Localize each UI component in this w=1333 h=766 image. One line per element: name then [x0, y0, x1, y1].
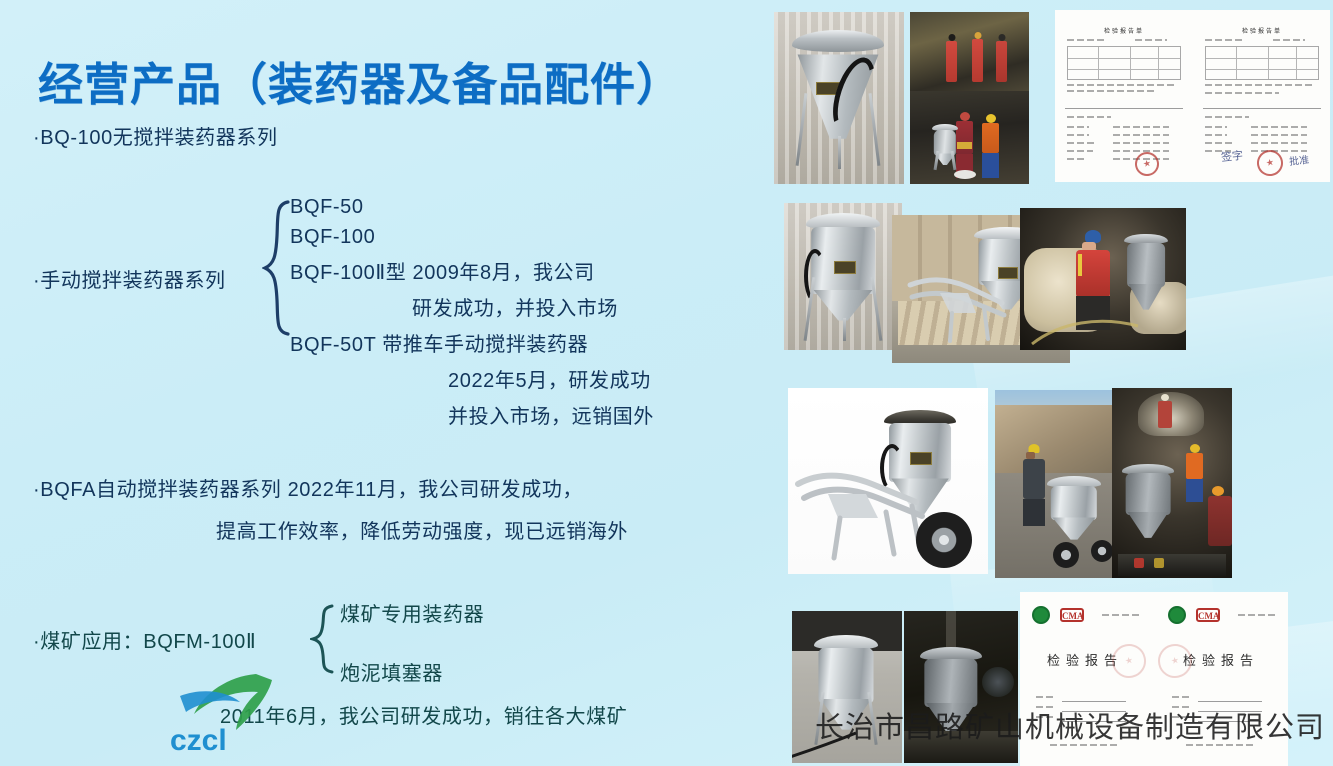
coal-mine-item-2: 炮泥填塞器: [340, 657, 443, 686]
certificate-document-2: 检验报告单: [1195, 12, 1329, 180]
certificate-document-1: 检验报告单: [1057, 12, 1191, 180]
photo-tunnel-charging: [1112, 388, 1232, 578]
list-item: BQF-100Ⅱ型 2009年8月，我公司: [290, 256, 654, 285]
photo-bqfm-100-device: [792, 611, 902, 763]
list-item: 并投入市场，远销国外: [290, 400, 654, 429]
list-item: BQF-50: [290, 196, 654, 219]
bullet-bq100-series: ·BQ-100无搅拌装药器系列: [33, 121, 278, 150]
text-column: 经营产品（装药器及备品配件） ·BQ-100无搅拌装药器系列 ·手动搅拌装药器系…: [0, 0, 770, 766]
cma-badge: CMA: [1196, 608, 1220, 622]
inspection-report-1: CMA 检验报告: [1020, 592, 1150, 766]
photo-overseas-site: [995, 390, 1117, 578]
curly-brace-icon: [262, 200, 292, 336]
label-manual-mixing-series: ·手动搅拌装药器系列: [33, 264, 226, 293]
coal-mine-item-1: 煤矿专用装药器: [340, 598, 484, 627]
manual-mixing-item-list: BQF-50 BQF-100 BQF-100Ⅱ型 2009年8月，我公司 研发成…: [290, 196, 654, 436]
photo-mine-site-workers: [910, 12, 1029, 184]
list-item: BQF-100: [290, 226, 654, 249]
list-item: BQF-50T 带推车手动搅拌装药器: [290, 328, 654, 357]
photo-underground-operation: [1020, 208, 1186, 350]
photo-coal-mine-underground: [904, 611, 1018, 763]
photo-certificate-documents: 检验报告单: [1055, 10, 1330, 182]
photo-bqfa-cart-render: [788, 388, 988, 574]
coal-mine-detail: 2011年6月，我公司研发成功，销往各大煤矿: [220, 700, 627, 729]
bullet-bqfa-series: ·BQFA自动搅拌装药器系列 2022年11月，我公司研发成功，: [33, 473, 583, 502]
photo-bqf-100-device: [784, 203, 902, 350]
curly-brace-icon: [310, 604, 336, 674]
inspection-report-2: CMA 检验报告: [1156, 592, 1286, 766]
label-coal-mine-application: ·煤矿应用：BQFM-100Ⅱ: [33, 625, 256, 654]
list-item: 研发成功，并投入市场: [290, 292, 654, 321]
image-collage: 检验报告单: [770, 0, 1333, 766]
page-title: 经营产品（装药器及备品配件）: [38, 48, 682, 113]
photo-inspection-reports: CMA 检验报告 CMA 检验报告: [1020, 592, 1288, 766]
bqfa-series-detail: 提高工作效率，降低劳动强度，现已远销海外: [216, 515, 628, 544]
slide-canvas: 经营产品（装药器及备品配件） ·BQ-100无搅拌装药器系列 ·手动搅拌装药器系…: [0, 0, 1333, 766]
list-item: 2022年5月，研发成功: [290, 364, 654, 393]
photo-charging-device-product: [774, 12, 904, 184]
cma-badge: CMA: [1060, 608, 1084, 622]
